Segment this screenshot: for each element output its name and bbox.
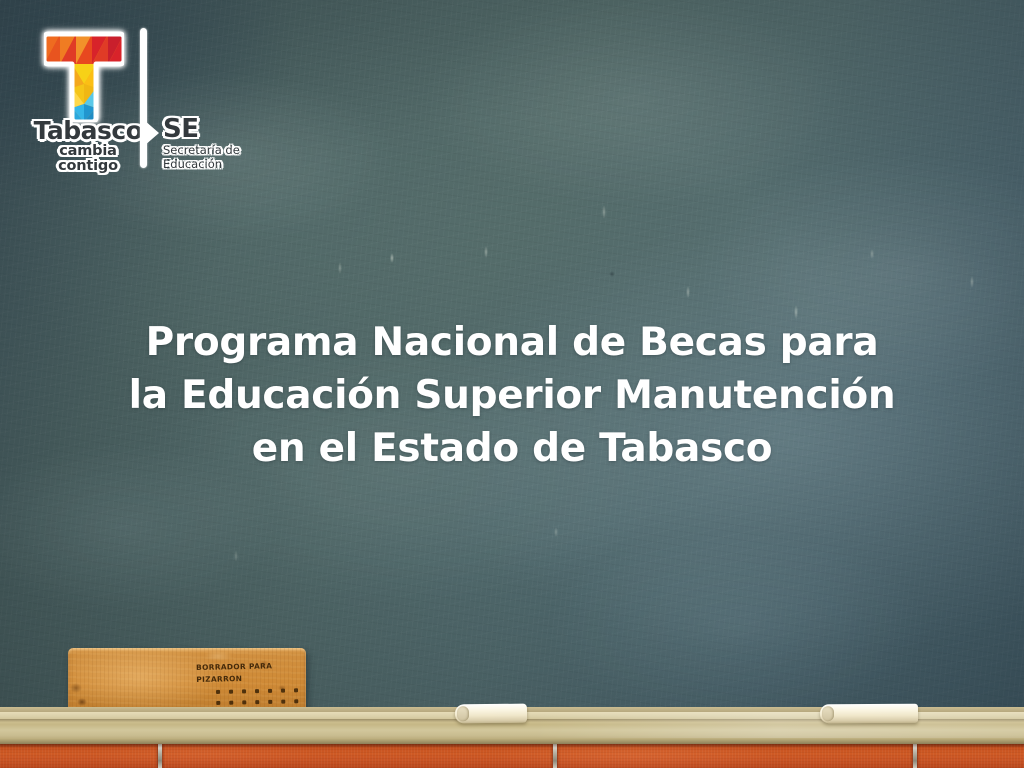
tabasco-tagline: cambia contigo [28, 144, 148, 173]
chalk-stick-left [455, 704, 527, 724]
eraser-dot [268, 689, 272, 693]
eraser-dot [281, 700, 285, 704]
eraser-dot [268, 700, 272, 704]
logo-lockup: Tabasco cambia contigo SE Secretaría de … [28, 28, 248, 168]
eraser-dot [242, 700, 246, 704]
se-subtitle: Secretaría de Educación [163, 144, 263, 171]
tabasco-logo: Tabasco cambia contigo [36, 30, 148, 170]
eraser-label: BORRADOR PARA PIZARRON [196, 660, 300, 687]
eraser-dot [229, 701, 233, 705]
eraser-dot [255, 700, 259, 704]
eraser-dot [229, 690, 233, 694]
eraser-dot [216, 701, 220, 705]
title-line-2: la Educación Superior Manutención [0, 369, 1024, 422]
eraser-dot [216, 690, 220, 694]
tabasco-word: Tabasco [28, 118, 148, 143]
eraser-dot [294, 699, 298, 703]
se-subtitle-line2: Educación [163, 158, 263, 172]
title-line-3: en el Estado de Tabasco [0, 422, 1024, 475]
eraser-dot [242, 689, 246, 693]
eraser-label-line2: PIZARRON [196, 672, 300, 686]
se-subtitle-line1: Secretaría de [163, 144, 263, 158]
chalk-stick-right [820, 704, 918, 724]
arrow-right-icon [144, 120, 159, 146]
eraser-dot [281, 689, 285, 693]
secretaria-educacion-logo: SE Secretaría de Educación [163, 116, 263, 171]
wall-top-shadow [0, 744, 1024, 748]
tabasco-t-mosaic-icon [44, 30, 124, 122]
page-title: Programa Nacional de Becas para la Educa… [0, 316, 1024, 475]
logo-divider [140, 28, 147, 168]
eraser-dot [294, 688, 298, 692]
presentation-slide: Tabasco cambia contigo SE Secretaría de … [0, 0, 1024, 768]
title-line-1: Programa Nacional de Becas para [0, 316, 1024, 369]
tabasco-wordmark: Tabasco cambia contigo [28, 118, 148, 173]
se-acronym: SE [163, 116, 263, 142]
eraser-dot [255, 689, 259, 693]
